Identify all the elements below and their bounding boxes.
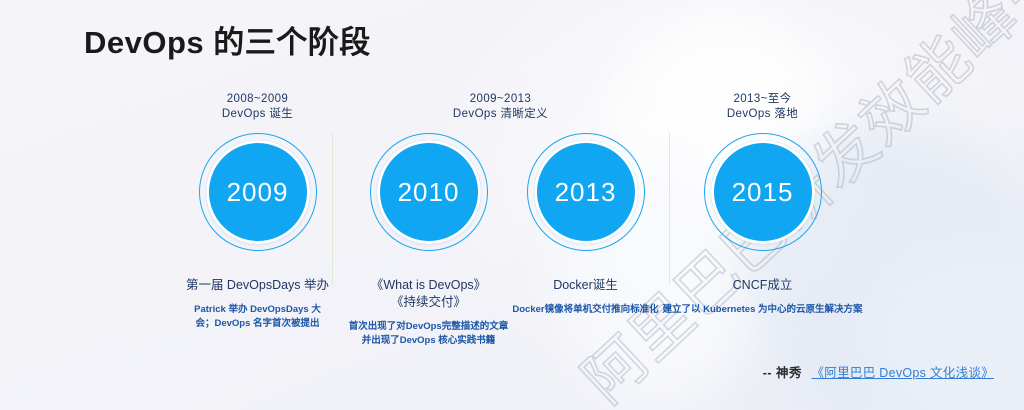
milestone-circle-2013: 2013 (527, 133, 645, 251)
milestone-year: 2010 (398, 177, 460, 208)
milestone-year: 2009 (227, 177, 289, 208)
milestone-caption-line1: CNCF成立 (733, 278, 793, 292)
attribution-link[interactable]: 《阿里巴巴 DevOps 文化浅谈》 (812, 366, 995, 380)
group-range-1: 2008~2009 (150, 92, 365, 107)
milestone-subtext-line1: 首次出现了对DevOps完整描述的文章 (349, 321, 508, 332)
group-name-1: DevOps 诞生 (150, 107, 365, 122)
group-range-2: 2009~2013 (393, 92, 608, 107)
milestone-circle-2015: 2015 (704, 133, 822, 251)
milestone-subtext-line2: 并出现了DevOps 核心实践书籍 (321, 334, 536, 348)
circle-disc: 2015 (711, 140, 815, 244)
milestone-year: 2015 (732, 177, 794, 208)
slide-canvas: 阿里巴巴研发效能峰会 DevOps 的三个阶段 2008~2009 DevOps… (0, 0, 1024, 410)
circle-disc: 2010 (377, 140, 481, 244)
group-header-3: 2013~至今 DevOps 落地 (655, 92, 870, 122)
milestone-caption-line1: 《What is DevOps》 (371, 278, 486, 292)
milestone-caption-line1: 第一届 DevOpsDays 举办 (186, 278, 329, 292)
milestone-subtext-line1: Patrick 举办 DevOpsDays 大 (194, 304, 321, 315)
group-name-2: DevOps 清晰定义 (393, 107, 608, 122)
milestone-subtext-line1: 建立了以 Kubernetes 为中心的云原生解决方案 (662, 304, 862, 315)
page-title: DevOps 的三个阶段 (84, 17, 371, 62)
milestone-column-2015: 2015 CNCF成立 建立了以 Kubernetes 为中心的云原生解决方案 (655, 133, 870, 317)
attribution-author: -- 神秀 (763, 366, 802, 380)
milestone-subtext-line1: Docker镜像将单机交付推向标准化 (512, 304, 658, 315)
group-name-3: DevOps 落地 (655, 107, 870, 122)
milestone-caption: CNCF成立 (655, 277, 870, 294)
circle-disc: 2009 (206, 140, 310, 244)
milestone-circle-2009: 2009 (199, 133, 317, 251)
milestone-circle-2010: 2010 (370, 133, 488, 251)
group-header-2: 2009~2013 DevOps 清晰定义 (393, 92, 608, 122)
milestone-caption-line1: Docker诞生 (553, 278, 618, 292)
milestone-year: 2013 (555, 177, 617, 208)
milestone-subtext: 首次出现了对DevOps完整描述的文章 并出现了DevOps 核心实践书籍 (321, 320, 536, 348)
milestone-subtext: 建立了以 Kubernetes 为中心的云原生解决方案 (655, 303, 870, 317)
circle-disc: 2013 (534, 140, 638, 244)
attribution: -- 神秀 《阿里巴巴 DevOps 文化浅谈》 (763, 362, 994, 381)
group-range-3: 2013~至今 (655, 92, 870, 107)
group-header-1: 2008~2009 DevOps 诞生 (150, 92, 365, 122)
